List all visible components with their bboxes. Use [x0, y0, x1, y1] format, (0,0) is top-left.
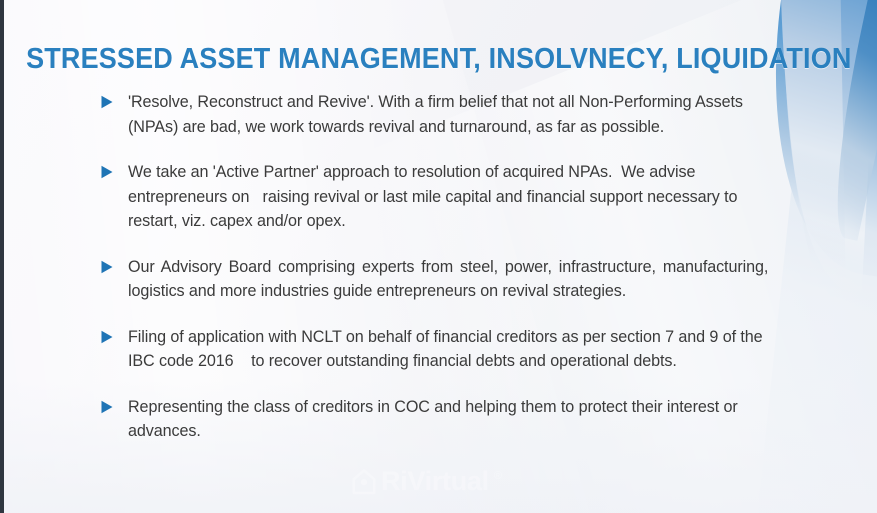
- triangle-right-icon: [100, 400, 114, 414]
- registered-mark: ®: [494, 470, 502, 482]
- list-item-text: We take an 'Active Partner' approach to …: [128, 160, 768, 234]
- list-item: We take an 'Active Partner' approach to …: [100, 160, 778, 234]
- list-item-text: 'Resolve, Reconstruct and Revive'. With …: [128, 90, 768, 139]
- list-item: Representing the class of creditors in C…: [100, 395, 778, 444]
- rivirtual-logo-icon: [352, 469, 376, 495]
- page-title: STRESSED ASSET MANAGEMENT, INSOLVNECY, L…: [26, 45, 851, 74]
- bullet-list: 'Resolve, Reconstruct and Revive'. With …: [100, 90, 778, 444]
- watermark-text: RiVirtual: [381, 468, 489, 495]
- triangle-right-icon: [100, 260, 114, 274]
- triangle-right-icon: [100, 95, 114, 109]
- triangle-right-icon: [100, 330, 114, 344]
- list-item-text: Representing the class of creditors in C…: [128, 395, 768, 444]
- slide-title-row: STRESSED ASSET MANAGEMENT, INSOLVNECY, L…: [0, 45, 877, 74]
- list-item: 'Resolve, Reconstruct and Revive'. With …: [100, 90, 778, 139]
- slide-canvas: STRESSED ASSET MANAGEMENT, INSOLVNECY, L…: [0, 0, 877, 513]
- list-item-text: Filing of application with NCLT on behal…: [128, 325, 768, 374]
- ribbon-band-4: [818, 0, 877, 241]
- list-item-text: Our Advisory Board comprising experts fr…: [128, 255, 768, 304]
- left-edge-bar: [0, 0, 4, 513]
- list-item: Filing of application with NCLT on behal…: [100, 325, 778, 374]
- triangle-right-icon: [100, 165, 114, 179]
- list-item: Our Advisory Board comprising experts fr…: [100, 255, 778, 304]
- watermark: RiVirtual ®: [352, 468, 502, 495]
